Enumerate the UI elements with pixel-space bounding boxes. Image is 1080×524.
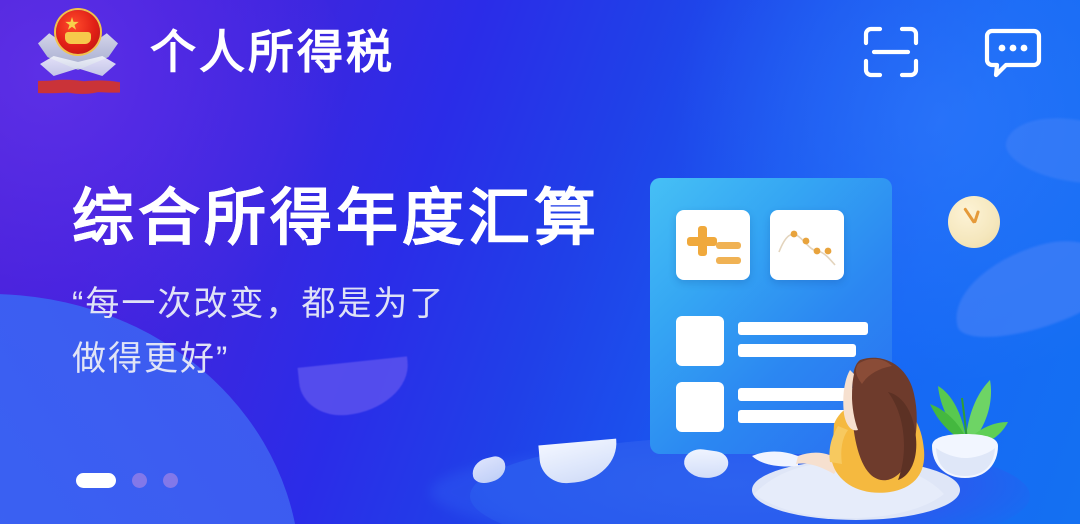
plus-icon	[687, 226, 717, 256]
equals-bar-upper	[716, 242, 741, 249]
header-actions	[860, 23, 1044, 81]
carousel-dot-1[interactable]	[76, 473, 116, 488]
hero-subtitle-line-1: “每一次改变，都是为了	[72, 277, 600, 332]
app-header: 个人所得税	[0, 0, 1080, 104]
line-chart-icon	[776, 218, 838, 272]
carousel-dot-3[interactable]	[163, 473, 178, 488]
paper-sheet-1	[538, 439, 619, 486]
hero-subtitle-line-2: 做得更好”	[72, 332, 600, 387]
hero-text-block: 综合所得年度汇算 “每一次改变，都是为了 做得更好”	[72, 186, 600, 387]
potted-plant-illustration	[910, 368, 1020, 486]
message-icon[interactable]	[982, 23, 1044, 81]
app-banner: 个人所得税	[0, 0, 1080, 524]
calculator-card	[676, 210, 750, 280]
checkbox-1[interactable]	[676, 316, 724, 366]
emblem-caption-calligraphy	[38, 76, 120, 98]
chart-card	[770, 210, 844, 280]
page-title: 个人所得税	[150, 29, 395, 75]
clock-icon	[948, 196, 1000, 248]
state-taxation-administration-emblem	[32, 4, 124, 100]
paper-sheet-3	[470, 454, 509, 486]
hero-headline: 综合所得年度汇算	[72, 186, 600, 251]
scan-icon[interactable]	[860, 23, 922, 81]
clock-minute-hand	[963, 207, 976, 224]
carousel-dot-2[interactable]	[132, 473, 147, 488]
equals-bar-lower	[716, 257, 741, 264]
emblem-red-disc	[56, 10, 100, 54]
carousel-indicators	[76, 473, 178, 488]
hero-subtitle: “每一次改变，都是为了 做得更好”	[72, 277, 600, 387]
checkbox-2[interactable]	[676, 382, 724, 432]
